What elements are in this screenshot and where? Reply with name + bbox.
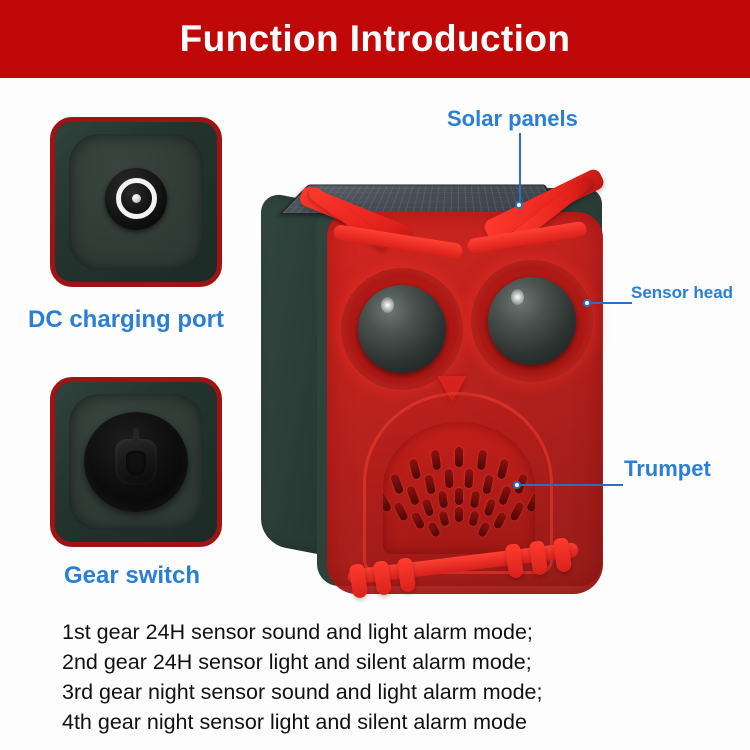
page-title: Function Introduction bbox=[180, 20, 571, 57]
leader-line-trumpet bbox=[519, 484, 623, 486]
speaker-slot bbox=[477, 521, 491, 538]
speaker-slot bbox=[424, 474, 436, 494]
owl-eye-socket-left bbox=[341, 268, 463, 390]
callout-label-solar-panels: Solar panels bbox=[447, 106, 578, 132]
product-image-owl-repeller bbox=[255, 160, 655, 610]
leader-line-solar-panels bbox=[519, 133, 521, 205]
callout-label-sensor-head: Sensor head bbox=[631, 283, 733, 303]
speaker-slot bbox=[383, 491, 392, 512]
speaker-slot bbox=[455, 507, 463, 522]
speaker-slot bbox=[444, 468, 453, 488]
dc-jack-icon bbox=[105, 168, 167, 230]
speaker-slot bbox=[498, 485, 512, 506]
infographic-page: Function Introduction DC charging port G… bbox=[0, 0, 750, 750]
rotary-switch-icon bbox=[84, 412, 188, 512]
callout-label-trumpet: Trumpet bbox=[624, 456, 711, 482]
speaker-slot bbox=[439, 510, 450, 526]
speaker-slot bbox=[431, 450, 441, 471]
sensor-lens-right bbox=[488, 277, 576, 365]
sensor-lens-left bbox=[358, 285, 446, 373]
gear-mode-line: 2nd gear 24H sensor light and silent ala… bbox=[62, 647, 722, 677]
speaker-slot bbox=[477, 450, 487, 471]
leader-dot-solar-panels bbox=[515, 201, 523, 209]
leader-line-sensor-head bbox=[588, 302, 632, 304]
speaker-slot bbox=[483, 499, 496, 518]
speaker-slot bbox=[437, 490, 448, 508]
gear-mode-line: 1st gear 24H sensor sound and light alar… bbox=[62, 617, 722, 647]
speaker-slot bbox=[390, 473, 405, 495]
inset-label-gear-switch: Gear switch bbox=[64, 562, 200, 590]
owl-eye-socket-right bbox=[471, 260, 593, 382]
speaker-slot bbox=[497, 459, 510, 480]
inset-card-gear-switch bbox=[50, 377, 222, 547]
speaker-slot bbox=[427, 521, 441, 538]
speaker-slot bbox=[470, 490, 481, 508]
leader-dot-trumpet bbox=[513, 481, 521, 489]
speaker-slot bbox=[468, 510, 479, 526]
speaker-slot bbox=[406, 485, 420, 506]
speaker-slot bbox=[464, 468, 473, 488]
inset-label-dc-charging-port: DC charging port bbox=[28, 306, 224, 334]
speaker-slot bbox=[526, 491, 535, 512]
speaker-slot bbox=[455, 488, 463, 505]
speaker-slot bbox=[482, 474, 494, 494]
speaker-slot bbox=[455, 447, 463, 467]
speaker-grille bbox=[383, 422, 535, 554]
gear-mode-line: 4th gear night sensor light and silent a… bbox=[62, 707, 722, 737]
speaker-slot bbox=[409, 459, 422, 480]
speaker-slot bbox=[509, 501, 525, 522]
header-banner: Function Introduction bbox=[0, 0, 750, 78]
rotary-switch-lever bbox=[115, 439, 157, 485]
dc-jack-pin bbox=[132, 194, 141, 203]
speaker-slot bbox=[393, 501, 409, 522]
inset-card-dc-charging-port bbox=[50, 117, 222, 287]
speaker-slot bbox=[422, 499, 435, 518]
leader-dot-sensor-head bbox=[583, 299, 591, 307]
dc-jack-ring bbox=[116, 178, 157, 219]
speaker-slot bbox=[410, 511, 425, 530]
gear-mode-line: 3rd gear night sensor sound and light al… bbox=[62, 677, 722, 707]
gear-mode-list: 1st gear 24H sensor sound and light alar… bbox=[62, 617, 722, 737]
speaker-slot bbox=[493, 511, 508, 530]
